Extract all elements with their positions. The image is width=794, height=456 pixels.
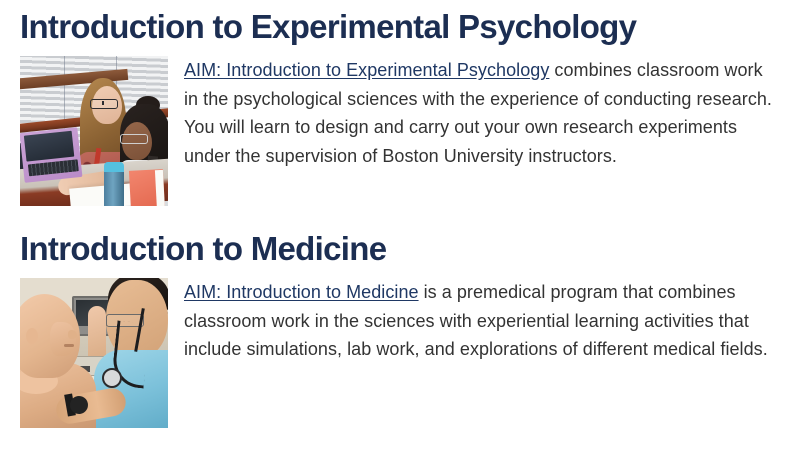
page-title: Introduction to Medicine: [20, 228, 776, 270]
page-title: Introduction to Experimental Psychology: [20, 6, 776, 48]
stethoscope-chestpiece: [102, 368, 122, 388]
medicine-program-image: [20, 278, 168, 428]
psychology-program-link[interactable]: AIM: Introduction to Experimental Psycho…: [184, 60, 549, 80]
laptop-keyboard: [28, 159, 79, 176]
mannequin-face: [50, 322, 76, 356]
page-root: Introduction to Experimental Psychology: [0, 0, 794, 456]
medicine-program-link[interactable]: AIM: Introduction to Medicine: [184, 282, 419, 302]
section-medicine: Introduction to Medicine: [20, 228, 776, 428]
eyeglasses-icon: [120, 134, 148, 144]
mannequin-mouth: [64, 344, 74, 347]
section-body: AIM: Introduction to Experimental Psycho…: [20, 56, 776, 206]
mannequin-nose: [68, 330, 77, 339]
eyeglasses-icon: [90, 99, 118, 109]
section-body: AIM: Introduction to Medicine is a preme…: [20, 278, 776, 428]
laptop-screen: [24, 131, 74, 162]
section-experimental-psychology: Introduction to Experimental Psychology: [20, 6, 776, 206]
mannequin-ear: [26, 328, 38, 344]
medicine-description: AIM: Introduction to Medicine is a preme…: [184, 278, 776, 364]
psychology-program-image: [20, 56, 168, 206]
purple-laptop: [20, 127, 82, 183]
water-bottle-cap: [104, 162, 124, 172]
psychology-description: AIM: Introduction to Experimental Psycho…: [184, 56, 776, 170]
